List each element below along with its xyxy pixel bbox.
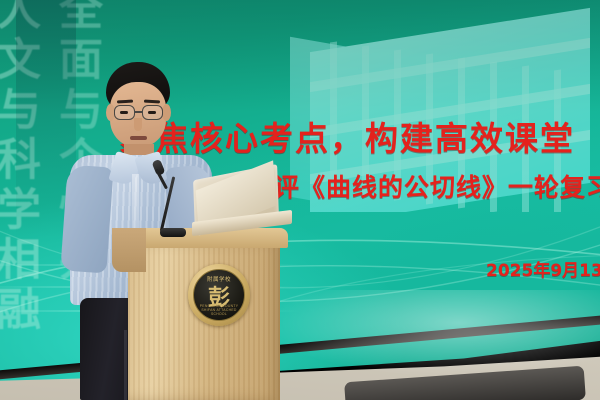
presentation-photo: 人文与科学相融 全面与个性共 聚焦核心考点，构建高效课堂 ——评《曲线的公切线》… — [0, 0, 600, 400]
speaker-nose — [134, 118, 142, 131]
emblem-inner-disc: 附属学校 彭 PENG XIAN COUNTY SHIFAN ATTACHED … — [193, 269, 245, 321]
school-emblem: 附属学校 彭 PENG XIAN COUNTY SHIFAN ATTACHED … — [188, 264, 250, 326]
podium: 附属学校 彭 PENG XIAN COUNTY SHIFAN ATTACHED … — [120, 228, 288, 400]
microphone-base — [160, 228, 186, 237]
emblem-top-text: 附属学校 — [194, 275, 244, 283]
speaker-eye-right — [148, 111, 156, 114]
shirt-sleeve-left — [60, 165, 113, 274]
presentation-date: 2025年9月13日 — [486, 256, 600, 281]
glasses-bridge — [135, 111, 142, 113]
speaker-mouth — [130, 136, 147, 140]
emblem-ring-text: PENG XIAN COUNTY SHIFAN ATTACHED SCHOOL — [194, 304, 244, 316]
speaker-ear-right — [162, 104, 171, 121]
laptop — [194, 172, 300, 234]
podium-side-notch — [112, 228, 146, 272]
speaker-eye-left — [120, 111, 128, 114]
